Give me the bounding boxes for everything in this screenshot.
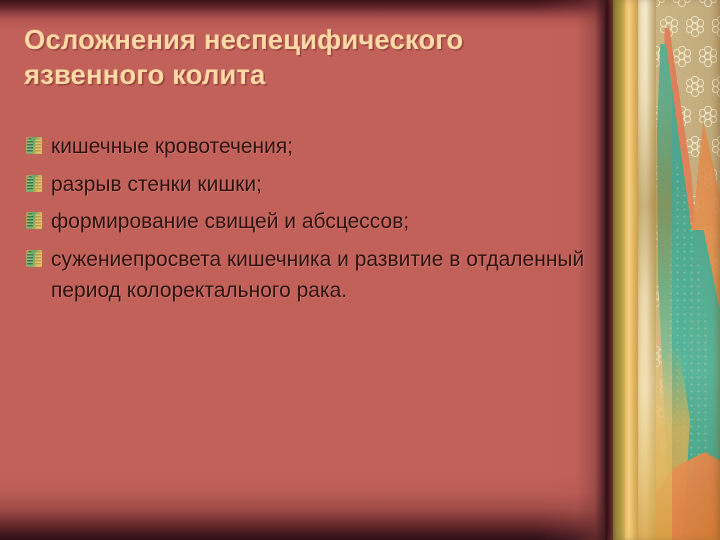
flower-motif-icon [711, 76, 720, 96]
title-line-2: язвенного колита [24, 57, 604, 92]
ornament-bullet-icon [26, 250, 42, 267]
flower-motif-icon [698, 106, 718, 126]
list-item: сужениепросвета кишечника и развитие в о… [26, 244, 586, 307]
flower-motif-icon [698, 0, 718, 6]
flower-motif-icon [685, 16, 705, 36]
flower-motif-icon [698, 46, 718, 66]
flower-motif-icon [711, 136, 720, 156]
border-olive-band [613, 0, 625, 540]
border-gold-band [625, 0, 638, 540]
floral-side-border [607, 0, 720, 540]
title-line-1: Осложнения неспецифического [24, 22, 604, 57]
ornament-bullet-icon [26, 137, 42, 154]
flower-motif-icon [685, 76, 705, 96]
list-item-label: сужениепросвета кишечника и развитие в о… [51, 244, 586, 307]
presentation-slide: Осложнения неспецифического язвенного ко… [0, 0, 720, 540]
border-gold-sweep [638, 0, 672, 540]
list-item-label: формирование свищей и абсцессов; [51, 206, 409, 238]
list-item-label: кишечные кровотечения; [51, 131, 293, 163]
flower-motif-icon [672, 46, 692, 66]
list-item: кишечные кровотечения; [26, 131, 586, 163]
list-item: формирование свищей и абсцессов; [26, 206, 586, 238]
list-item-label: разрыв стенки кишки; [51, 169, 262, 201]
bullet-list: кишечные кровотечения; разрыв стенки киш… [26, 131, 586, 313]
border-dark-edge [607, 0, 613, 540]
ornament-bullet-icon [26, 175, 42, 192]
page-title: Осложнения неспецифического язвенного ко… [24, 22, 604, 92]
list-item: разрыв стенки кишки; [26, 169, 586, 201]
flower-motif-icon [711, 16, 720, 36]
ornament-bullet-icon [26, 212, 42, 229]
flower-motif-icon [672, 0, 692, 6]
